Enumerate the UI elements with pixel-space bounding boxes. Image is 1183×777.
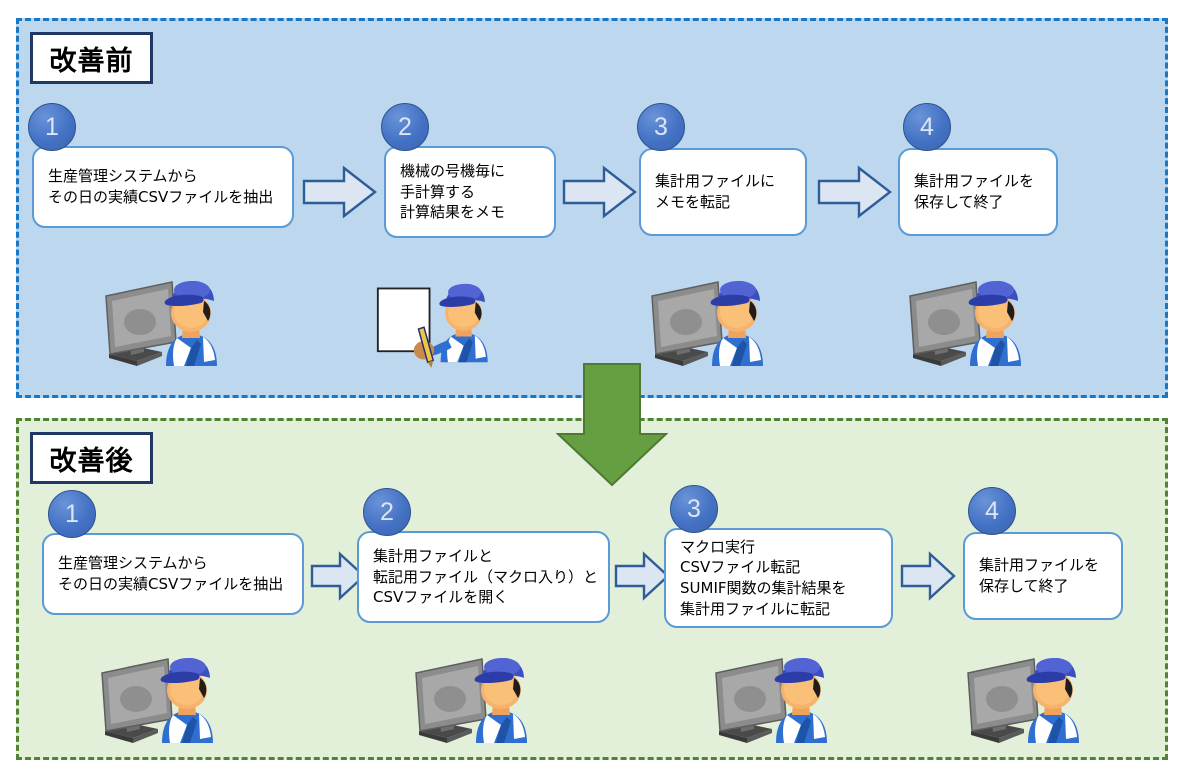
process-line: 機械の号機毎に (400, 161, 542, 182)
flow-arrow-before-3-4 (817, 165, 893, 219)
person-at-computer-icon (650, 268, 770, 368)
step-badge-after-4: 4 (968, 487, 1016, 535)
process-line: 集計用ファイルを (914, 171, 1044, 192)
process-line: 転記用ファイル（マクロ入り）と (373, 567, 596, 588)
step-badge-after-3: 3 (670, 485, 718, 533)
step-badge-before-4: 4 (903, 103, 951, 151)
process-line: 生産管理システムから (48, 166, 280, 187)
step-badge-after-2: 2 (363, 488, 411, 536)
process-line: 集計用ファイルに転記 (680, 599, 879, 620)
flow-arrow-before-2-3 (562, 165, 638, 219)
person-writing-on-paper-icon (376, 268, 496, 368)
process-line: 手計算する (400, 182, 542, 203)
process-line: 集計用ファイルに (655, 171, 793, 192)
section-title-after: 改善後 (30, 432, 153, 484)
step-badge-before-1: 1 (28, 103, 76, 151)
step-badge-before-2: 2 (381, 103, 429, 151)
process-line: 保存して終了 (914, 192, 1044, 213)
process-line: 生産管理システムから (58, 553, 290, 574)
process-line: CSVファイル転記 (680, 557, 879, 578)
step-badge-after-1: 1 (48, 490, 96, 538)
flow-arrow-after-3-4 (900, 551, 956, 601)
flow-arrow-before-1-2 (302, 165, 378, 219)
flow-arrow-after-2-3 (614, 551, 670, 601)
process-box-before-1[interactable]: 生産管理システムから その日の実績CSVファイルを抽出 (32, 146, 294, 228)
process-line: 集計用ファイルと (373, 546, 596, 567)
step-badge-before-3: 3 (637, 103, 685, 151)
process-box-before-4[interactable]: 集計用ファイルを 保存して終了 (898, 148, 1058, 236)
process-line: 集計用ファイルを (979, 555, 1109, 576)
section-title-before: 改善前 (30, 32, 153, 84)
process-box-before-2[interactable]: 機械の号機毎に 手計算する 計算結果をメモ (384, 146, 556, 238)
process-line: マクロ実行 (680, 537, 879, 558)
process-line: SUMIF関数の集計結果を (680, 578, 879, 599)
person-at-computer-icon (908, 268, 1028, 368)
person-at-computer-icon (714, 645, 834, 745)
person-at-computer-icon (104, 268, 224, 368)
person-at-computer-icon (966, 645, 1086, 745)
process-line: CSVファイルを開く (373, 587, 596, 608)
person-at-computer-icon (414, 645, 534, 745)
green-down-arrow-icon (556, 362, 668, 487)
process-line: その日の実績CSVファイルを抽出 (58, 574, 290, 595)
process-box-after-1[interactable]: 生産管理システムから その日の実績CSVファイルを抽出 (42, 533, 304, 615)
process-line: 計算結果をメモ (400, 202, 542, 223)
process-box-after-3[interactable]: マクロ実行 CSVファイル転記 SUMIF関数の集計結果を 集計用ファイルに転記 (664, 528, 893, 628)
process-line: 保存して終了 (979, 576, 1109, 597)
person-at-computer-icon (100, 645, 220, 745)
process-line: その日の実績CSVファイルを抽出 (48, 187, 280, 208)
process-box-after-4[interactable]: 集計用ファイルを 保存して終了 (963, 532, 1123, 620)
process-box-before-3[interactable]: 集計用ファイルに メモを転記 (639, 148, 807, 236)
process-line: メモを転記 (655, 192, 793, 213)
process-box-after-2[interactable]: 集計用ファイルと 転記用ファイル（マクロ入り）と CSVファイルを開く (357, 531, 610, 623)
